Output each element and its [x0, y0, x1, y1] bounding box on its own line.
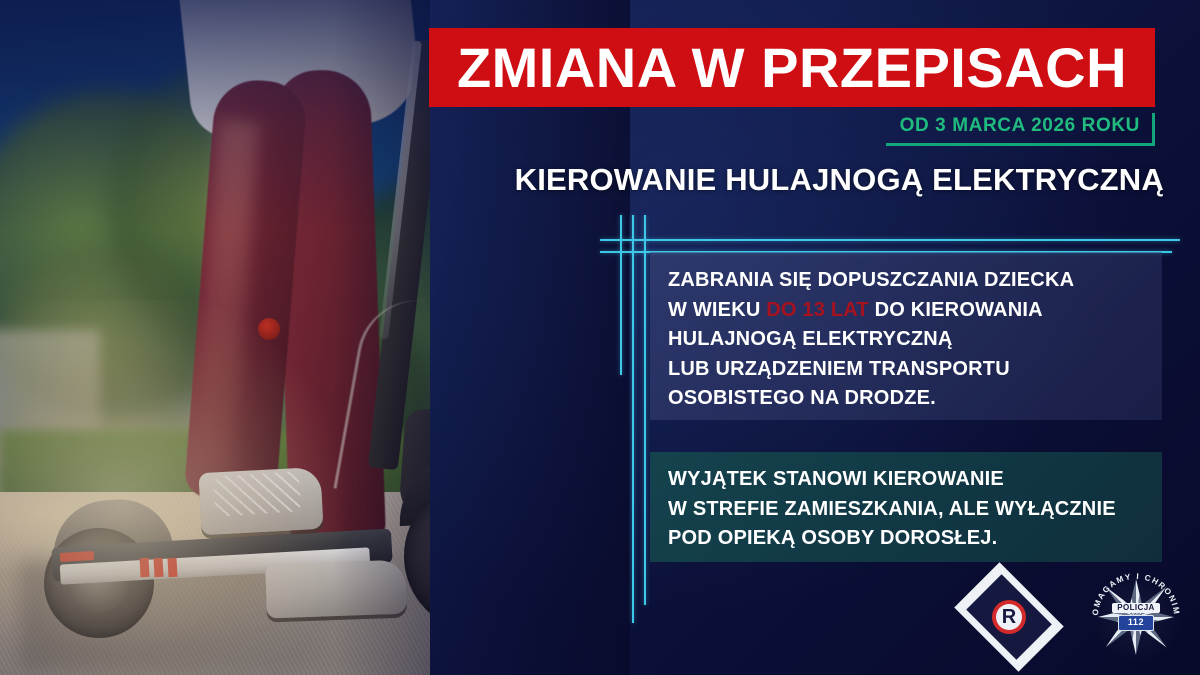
exception-line-3: POD OPIEKĄ OSOBY DOROSŁEJ.	[668, 524, 1144, 554]
rule-text-block: ZABRANIA SIĘ DOPUSZCZANIA DZIECKA W WIEK…	[650, 252, 1162, 420]
badge-motto-ring: POMAGAMY I CHRONIMY	[1090, 571, 1182, 663]
diamond-letter: R	[1002, 607, 1016, 627]
scooter-red-dot	[258, 318, 280, 340]
shoe-laces	[213, 471, 302, 517]
rule-line-1: ZABRANIA SIĘ DOPUSZCZANIA DZIECKA	[668, 266, 1144, 296]
rule-line-2: W WIEKU DO 13 LAT DO KIEROWANIA	[668, 296, 1144, 326]
deck-stripe	[167, 558, 177, 577]
traffic-police-diamond-icon: R	[960, 584, 1058, 650]
age-highlight: DO 13 LAT	[766, 299, 869, 321]
exception-text-block: WYJĄTEK STANOWI KIEROWANIE W STREFIE ZAM…	[650, 452, 1162, 562]
rule-line-3: HULAJNOGĄ ELEKTRYCZNĄ	[668, 325, 1144, 355]
badge-motto-text: POMAGAMY I CHRONIMY	[1090, 571, 1181, 616]
banner-title: ZMIANA W PRZEPISACH	[457, 40, 1127, 96]
police-star-badge-icon: POLICJA 112 POMAGAMY I CHRONIMY	[1090, 571, 1182, 663]
rule-line-4: LUB URZĄDZENIEM TRANSPORTU	[668, 355, 1144, 385]
rule-line-2-post: DO KIEROWANIA	[869, 299, 1043, 321]
rider-shoe-lower	[265, 560, 407, 619]
rule-line-2-pre: W WIEKU	[668, 299, 766, 321]
diamond-white-disc: R	[996, 604, 1022, 630]
poster-root: ZMIANA W PRZEPISACH OD 3 MARCA 2026 ROKU…	[0, 0, 1200, 675]
banner-title-bar: ZMIANA W PRZEPISACH	[429, 28, 1155, 107]
effective-date-badge: OD 3 MARCA 2026 ROKU	[886, 113, 1155, 146]
deck-tail-stripe	[60, 551, 94, 562]
exception-line-2: W STREFIE ZAMIESZKANIA, ALE WYŁĄCZNIE	[668, 495, 1144, 525]
deck-stripe	[153, 558, 163, 577]
deck-stripe	[139, 558, 149, 577]
page-subtitle: KIEROWANIE HULAJNOGĄ ELEKTRYCZNĄ	[515, 162, 1164, 198]
exception-line-1: WYJĄTEK STANOWI KIEROWANIE	[668, 465, 1144, 495]
effective-date-text: OD 3 MARCA 2026 ROKU	[900, 115, 1140, 137]
rule-line-5: OSOBISTEGO NA DRODZE.	[668, 384, 1144, 414]
logo-row: R POLICJA 112 POMAGAMY I CHRONIMY	[960, 571, 1182, 663]
